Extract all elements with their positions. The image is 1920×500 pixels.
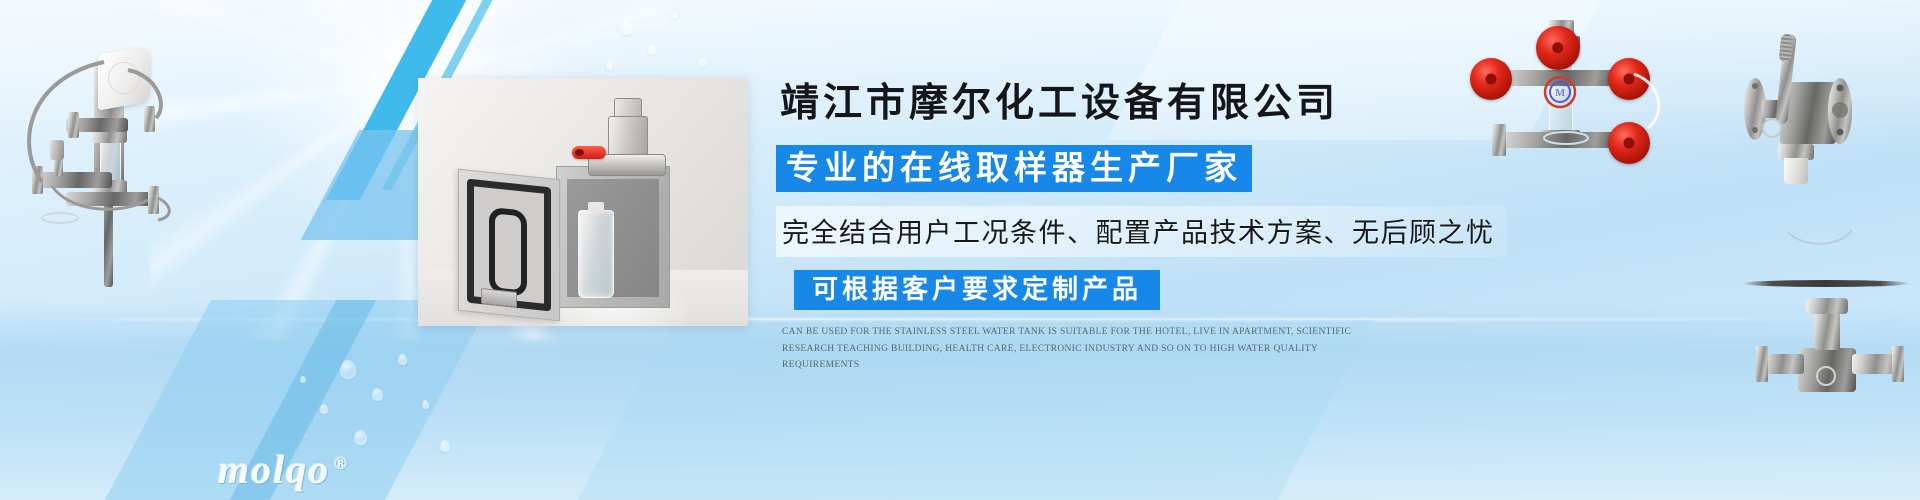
photo-cabinet-door — [458, 169, 560, 322]
photo-valve-head — [588, 98, 664, 182]
tagline-badge: 专业的在线取样器生产厂家 — [776, 145, 1252, 192]
photo-sample-bottle — [578, 210, 614, 298]
subline-panel: 完全结合用户工况条件、配置产品技术方案、无后顾之忧 — [776, 206, 1507, 257]
brand-watermark: molqo® — [218, 446, 349, 493]
watermark-text: molqo — [218, 447, 330, 492]
equipment-left-sampler-image — [8, 22, 198, 287]
company-name: 靖江市摩尔化工设备有限公司 — [780, 72, 1776, 128]
custom-order-badge: 可根据客户要求定制产品 — [794, 270, 1160, 310]
center-product-photo — [418, 78, 748, 326]
red-lever-icon — [572, 146, 606, 159]
english-description: CAN BE USED FOR THE STAINLESS STEEL WATE… — [782, 324, 1382, 374]
banner-text-block: 靖江市摩尔化工设备有限公司 专业的在线取样器生产厂家 完全结合用户工况条件、配置… — [776, 72, 1776, 374]
registered-mark-icon: ® — [334, 454, 349, 473]
water-droplets-bottom — [140, 330, 560, 500]
promo-banner: M — [0, 0, 1920, 500]
subline-text: 完全结合用户工况条件、配置产品技术方案、无后顾之忧 — [782, 218, 1495, 248]
